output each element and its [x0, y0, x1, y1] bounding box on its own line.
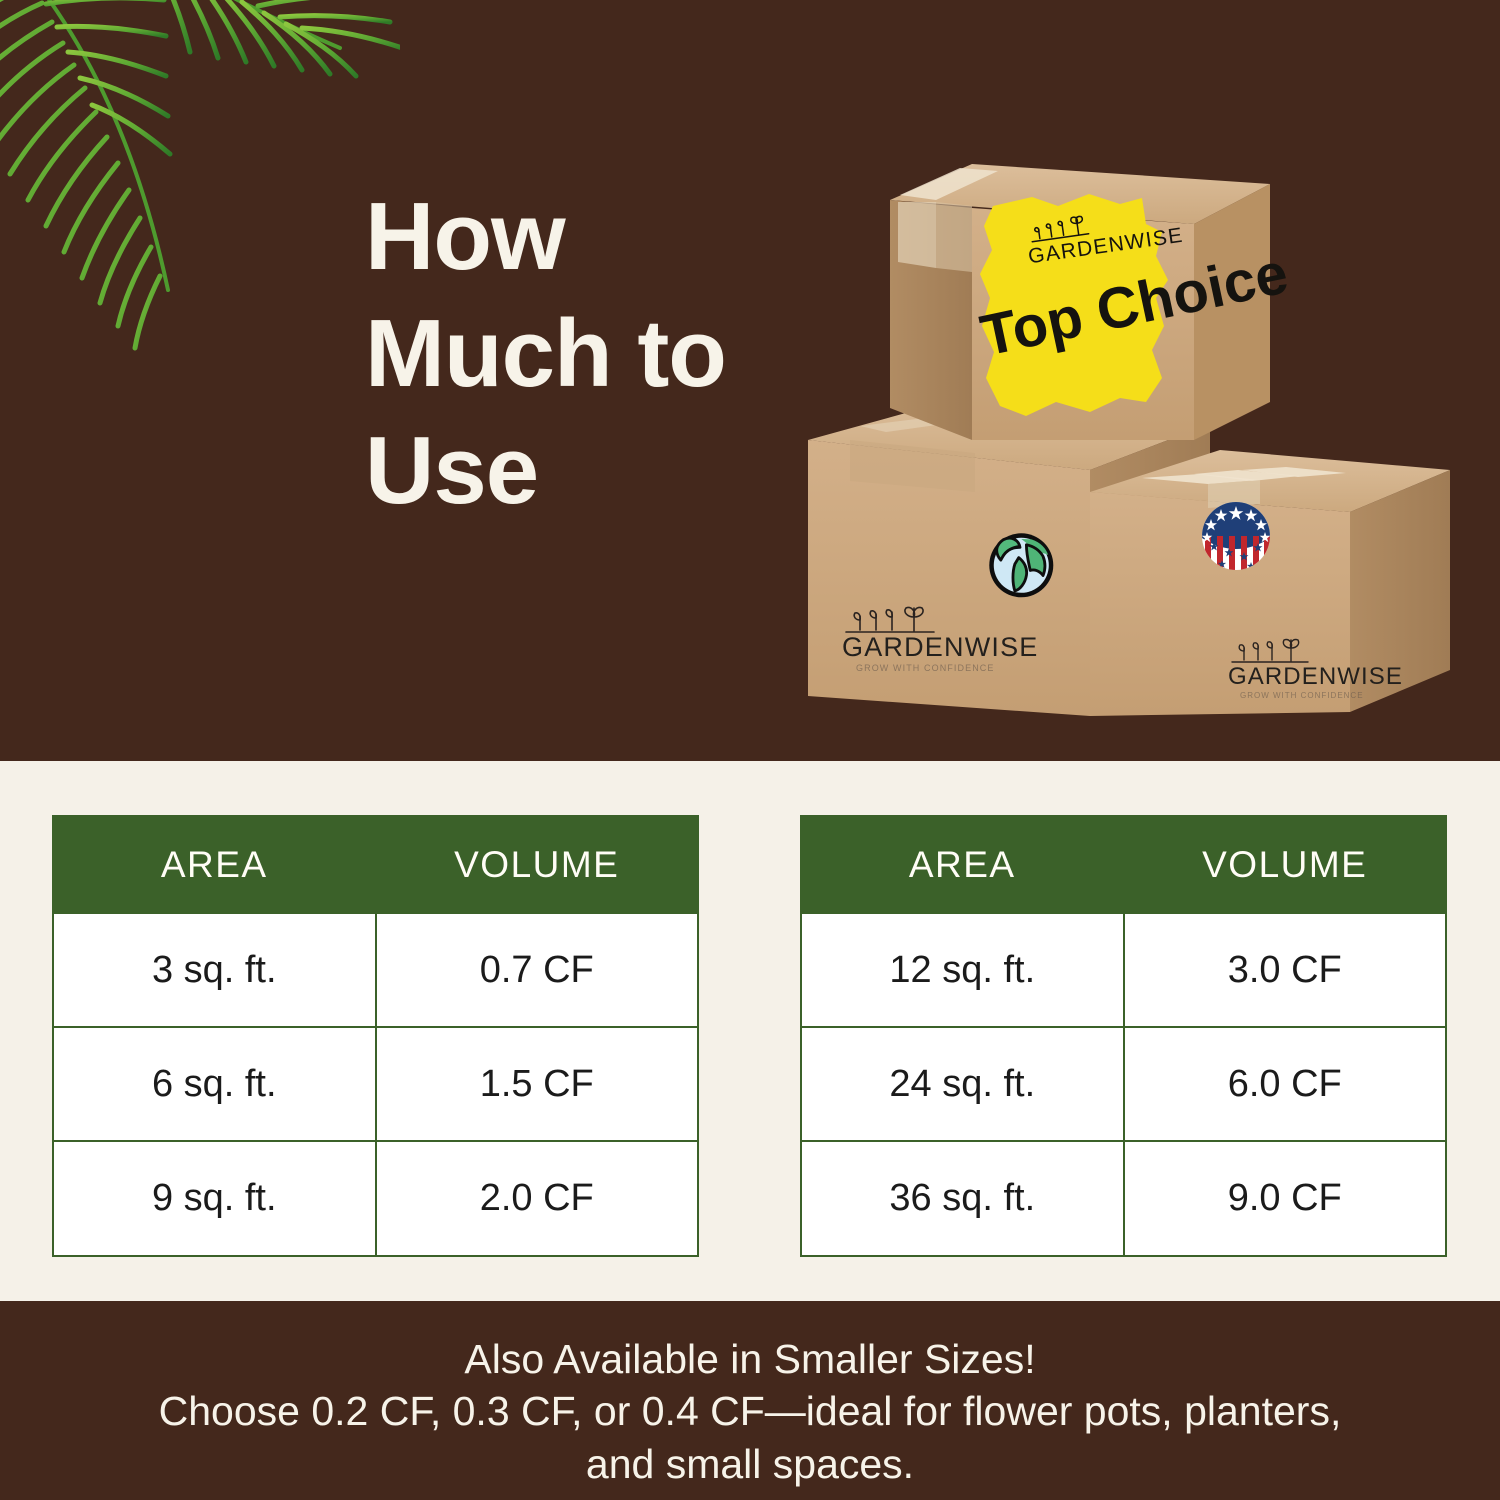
footer-line-3: and small spaces. [0, 1438, 1500, 1490]
table-row: 36 sq. ft. 9.0 CF [802, 1141, 1445, 1255]
cell-volume: 2.0 CF [376, 1141, 698, 1255]
palm-leaves-icon [0, 0, 400, 360]
right-box: GARDENWISE GROW WITH CONFIDENCE [1090, 450, 1450, 716]
title-line-2: Much to [365, 295, 785, 412]
svg-text:GARDENWISE: GARDENWISE [842, 632, 1039, 662]
cell-volume: 9.0 CF [1124, 1141, 1446, 1255]
hero-section: How Much to Use [0, 0, 1500, 761]
table-row: 9 sq. ft. 2.0 CF [54, 1141, 697, 1255]
column-header-area: AREA [802, 817, 1124, 913]
svg-text:GROW WITH CONFIDENCE: GROW WITH CONFIDENCE [1240, 691, 1364, 700]
cell-area: 24 sq. ft. [802, 1027, 1124, 1141]
top-box: GARDENWISE Top Choice [890, 164, 1293, 440]
table-row: 3 sq. ft. 0.7 CF [54, 913, 697, 1027]
table-header-row: AREA VOLUME [54, 817, 697, 913]
footer-line-2: Choose 0.2 CF, 0.3 CF, or 0.4 CF—ideal f… [0, 1385, 1500, 1437]
cell-area: 9 sq. ft. [54, 1141, 376, 1255]
cell-area: 3 sq. ft. [54, 913, 376, 1027]
cell-volume: 6.0 CF [1124, 1027, 1446, 1141]
cell-area: 6 sq. ft. [54, 1027, 376, 1141]
table-header-row: AREA VOLUME [802, 817, 1445, 913]
svg-text:GROW WITH CONFIDENCE: GROW WITH CONFIDENCE [856, 663, 995, 673]
product-boxes-illustration: GARDENWISE GROW WITH CONFIDENCE [790, 140, 1490, 720]
table-row: 12 sq. ft. 3.0 CF [802, 913, 1445, 1027]
cell-volume: 0.7 CF [376, 913, 698, 1027]
tables-section: AREA VOLUME 3 sq. ft. 0.7 CF 6 sq. ft. 1… [0, 761, 1500, 1301]
title-line-3: Use [365, 412, 785, 529]
svg-text:GARDENWISE: GARDENWISE [1228, 663, 1403, 690]
footer-section: Also Available in Smaller Sizes! Choose … [0, 1301, 1500, 1500]
cell-area: 12 sq. ft. [802, 913, 1124, 1027]
footer-line-1: Also Available in Smaller Sizes! [0, 1333, 1500, 1385]
cell-area: 36 sq. ft. [802, 1141, 1124, 1255]
column-header-volume: VOLUME [1124, 817, 1446, 913]
table-row: 24 sq. ft. 6.0 CF [802, 1027, 1445, 1141]
usa-flag-sticker [1202, 502, 1271, 570]
column-header-volume: VOLUME [376, 817, 698, 913]
column-header-area: AREA [54, 817, 376, 913]
large-sizes-table: AREA VOLUME 12 sq. ft. 3.0 CF 24 sq. ft.… [800, 815, 1447, 1257]
table-row: 6 sq. ft. 1.5 CF [54, 1027, 697, 1141]
cell-volume: 3.0 CF [1124, 913, 1446, 1027]
page-title: How Much to Use [365, 178, 785, 529]
cell-volume: 1.5 CF [376, 1027, 698, 1141]
small-sizes-table: AREA VOLUME 3 sq. ft. 0.7 CF 6 sq. ft. 1… [52, 815, 699, 1257]
earth-eco-sticker [989, 533, 1053, 597]
title-line-1: How [365, 178, 785, 295]
